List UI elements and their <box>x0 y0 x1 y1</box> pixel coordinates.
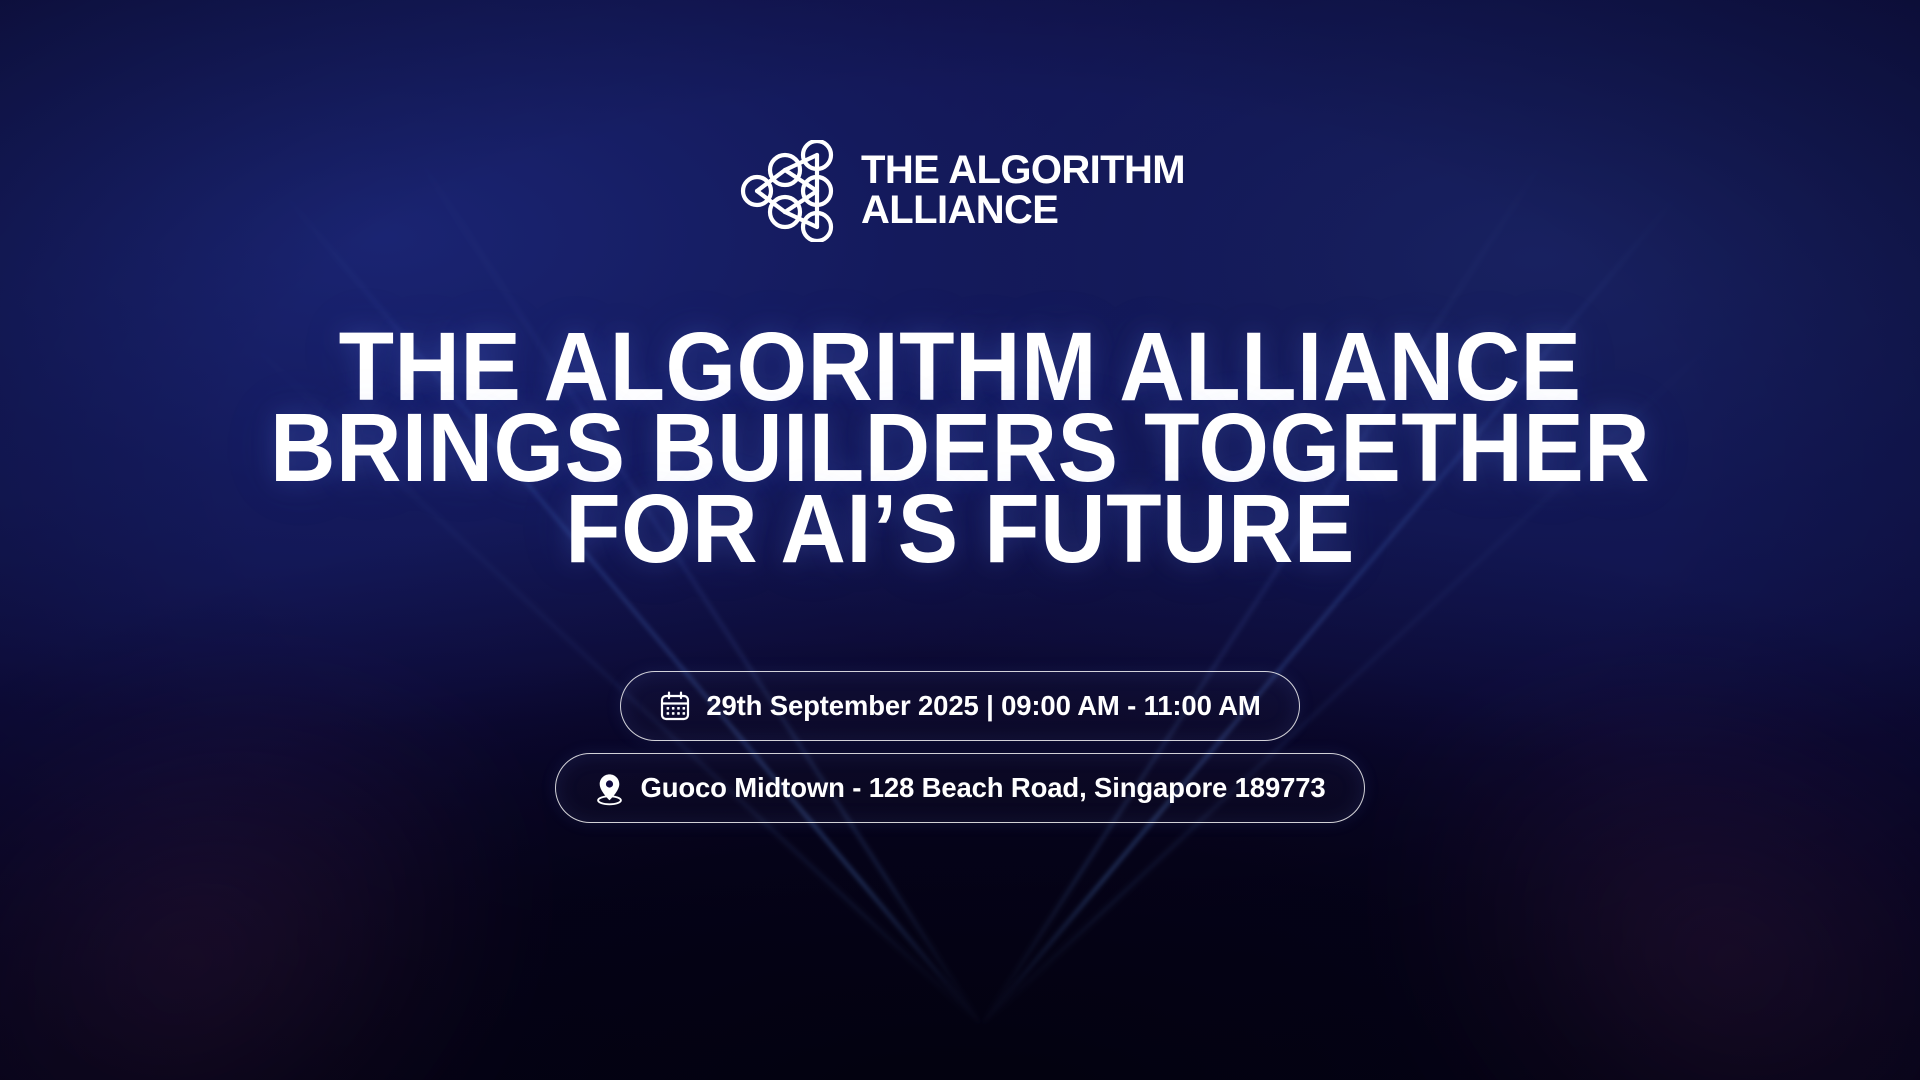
event-details: 29th September 2025 | 09:00 AM - 11:00 A… <box>555 671 1364 823</box>
event-banner: THE ALGORITHM ALLIANCE THE ALGORITHM ALL… <box>0 0 1920 1080</box>
event-date-pill: 29th September 2025 | 09:00 AM - 11:00 A… <box>620 671 1299 741</box>
event-location-pill: Guoco Midtown - 128 Beach Road, Singapor… <box>555 753 1364 823</box>
headline: THE ALGORITHM ALLIANCE BRINGS BUILDERS T… <box>270 326 1650 569</box>
banner-content: THE ALGORITHM ALLIANCE THE ALGORITHM ALL… <box>0 0 1920 1080</box>
logo-lockup: THE ALGORITHM ALLIANCE <box>735 140 1185 242</box>
network-nodes-icon <box>735 140 839 242</box>
logo-wordmark-line2: ALLIANCE <box>861 191 1185 231</box>
event-location-text: Guoco Midtown - 128 Beach Road, Singapor… <box>640 772 1325 804</box>
calendar-icon <box>659 690 691 722</box>
logo-wordmark-line1: THE ALGORITHM <box>861 151 1185 191</box>
map-pin-icon <box>594 773 625 806</box>
logo-wordmark: THE ALGORITHM ALLIANCE <box>861 151 1185 230</box>
event-date-text: 29th September 2025 | 09:00 AM - 11:00 A… <box>706 690 1260 722</box>
